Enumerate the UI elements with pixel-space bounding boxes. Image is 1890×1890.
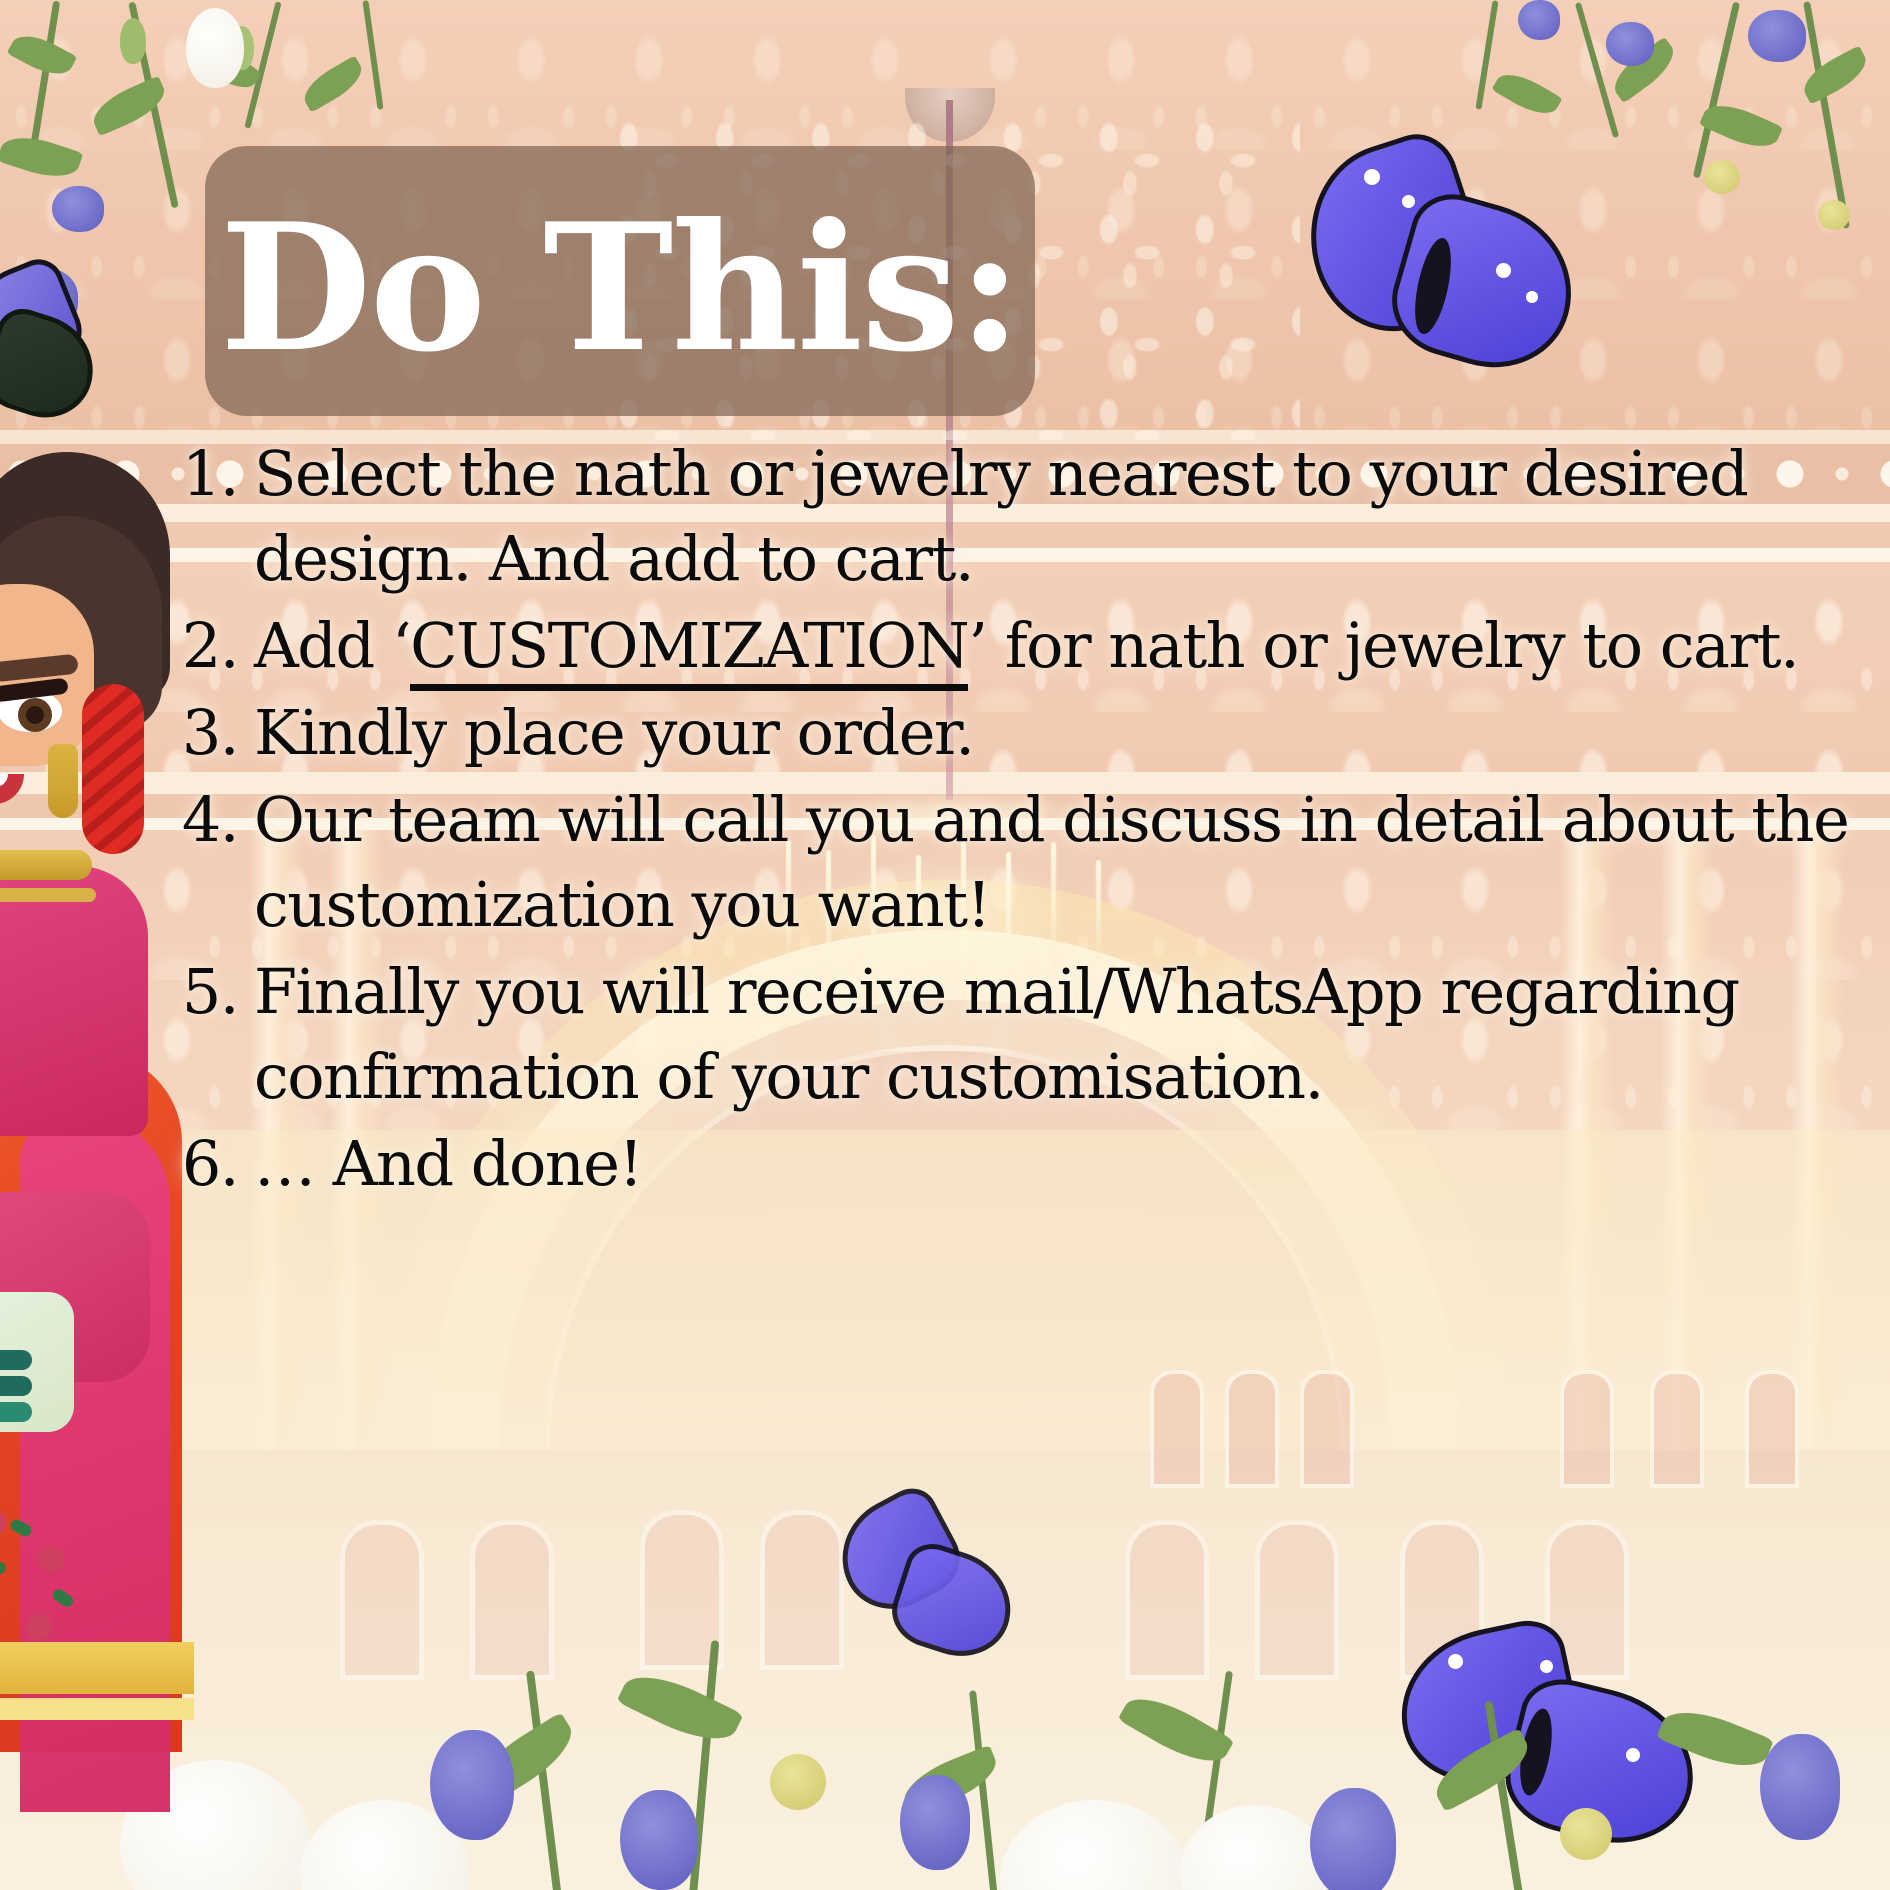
list-item: 1. Select the nath or jewelry nearest to… — [168, 432, 1858, 602]
blue-butterfly-bottom-right — [1390, 1620, 1720, 1880]
step-number: 2. — [168, 604, 254, 689]
blue-butterfly-bottom-center — [840, 1500, 1020, 1670]
list-item: 4. Our team will call you and discuss in… — [168, 778, 1858, 948]
step-text: Our team will call you and discuss in de… — [254, 778, 1858, 948]
list-item: 5. Finally you will receive mail/WhatsAp… — [168, 950, 1858, 1120]
blue-butterfly-left — [0, 268, 110, 428]
step-emphasis-customization: CUSTOMIZATION — [410, 609, 968, 691]
title-banner: Do This: — [205, 146, 1035, 416]
step-text: Select the nath or jewelry nearest to yo… — [254, 432, 1858, 602]
blue-butterfly-top-right — [1280, 145, 1590, 415]
step-text: Finally you will receive mail/WhatsApp r… — [254, 950, 1858, 1120]
step-text: Add ‘CUSTOMIZATION’ for nath or jewelry … — [254, 604, 1858, 689]
step-number: 5. — [168, 950, 254, 1035]
step-number: 6. — [168, 1122, 254, 1207]
step-number: 1. — [168, 432, 254, 517]
step-text-pre: Add ‘ — [254, 609, 410, 682]
step-text: … And done! — [254, 1122, 1858, 1207]
page-title: Do This: — [220, 201, 1020, 376]
step-text-pre: Select the nath or jewelry nearest to yo… — [254, 437, 1747, 595]
steps-list: 1. Select the nath or jewelry nearest to… — [168, 432, 1858, 1208]
step-text-pre: Finally you will receive mail/WhatsApp r… — [254, 955, 1739, 1113]
list-item: 2. Add ‘CUSTOMIZATION’ for nath or jewel… — [168, 604, 1858, 689]
chandelier-canopy — [905, 88, 995, 142]
step-text-pre: … And done! — [254, 1127, 642, 1200]
list-item: 6. … And done! — [168, 1122, 1858, 1207]
step-text-post: ’ for nath or jewelry to cart. — [968, 609, 1798, 682]
poster-canvas: Do This: 1. Select the nath or jewelry n… — [0, 0, 1890, 1890]
step-text-pre: Kindly place your order. — [254, 696, 973, 769]
step-text: Kindly place your order. — [254, 691, 1858, 776]
step-number: 3. — [168, 691, 254, 776]
step-text-pre: Our team will call you and discuss in de… — [254, 783, 1848, 941]
step-number: 4. — [168, 778, 254, 863]
list-item: 3. Kindly place your order. — [168, 691, 1858, 776]
